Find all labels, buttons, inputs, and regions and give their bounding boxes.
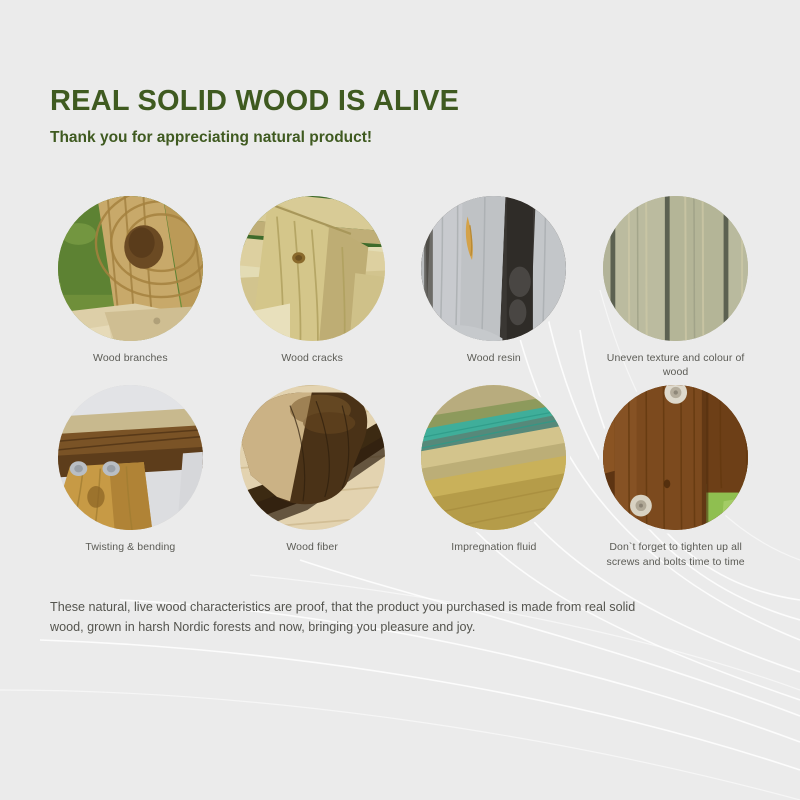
feature-item-tighten-screws: Don`t forget to tighten up all screws an… — [595, 385, 756, 568]
feature-caption: Wood resin — [467, 351, 521, 365]
feature-grid: Wood branches — [50, 196, 756, 569]
tighten-screws-photo — [603, 385, 748, 530]
feature-caption: Wood cracks — [281, 351, 343, 365]
uneven-texture-photo — [603, 196, 748, 341]
feature-caption: Wood branches — [93, 351, 168, 365]
feature-item-uneven-texture: Uneven texture and colour of wood — [595, 196, 756, 379]
feature-caption: Uneven texture and colour of wood — [596, 351, 756, 379]
feature-caption: Impregnation fluid — [451, 540, 536, 554]
twisting-bending-photo — [58, 385, 203, 530]
wood-resin-photo — [421, 196, 566, 341]
feature-row-1: Wood branches — [50, 196, 756, 379]
wood-cracks-photo — [240, 196, 385, 341]
feature-caption: Don`t forget to tighten up all screws an… — [596, 540, 756, 568]
feature-caption: Wood fiber — [286, 540, 338, 554]
page-subtitle: Thank you for appreciating natural produ… — [50, 129, 750, 146]
feature-caption: Twisting & bending — [85, 540, 175, 554]
wood-fiber-photo — [240, 385, 385, 530]
feature-item-wood-cracks: Wood cracks — [232, 196, 393, 379]
infographic-page: REAL SOLID WOOD IS ALIVE Thank you for a… — [0, 0, 800, 800]
wood-branches-photo — [58, 196, 203, 341]
footer-paragraph: These natural, live wood characteristics… — [50, 597, 660, 638]
impregnation-fluid-photo — [421, 385, 566, 530]
feature-item-twisting-bending: Twisting & bending — [50, 385, 211, 568]
feature-item-impregnation-fluid: Impregnation fluid — [414, 385, 575, 568]
page-title: REAL SOLID WOOD IS ALIVE — [50, 86, 750, 118]
header: REAL SOLID WOOD IS ALIVE Thank you for a… — [50, 86, 750, 146]
feature-item-wood-fiber: Wood fiber — [232, 385, 393, 568]
feature-item-wood-resin: Wood resin — [414, 196, 575, 379]
feature-row-2: Twisting & bending — [50, 385, 756, 568]
feature-item-wood-branches: Wood branches — [50, 196, 211, 379]
